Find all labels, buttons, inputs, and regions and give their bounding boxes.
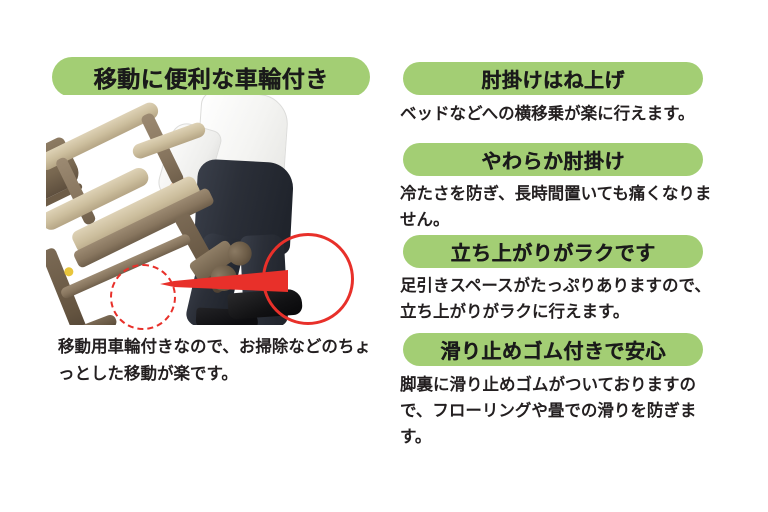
left-feature-heading-pill: 移動に便利な車輪付き: [52, 57, 370, 97]
feature-4-body-text: 脚裏に滑り止めゴムがついておりますので、フローリングや畳での滑りを防ぎます。: [400, 372, 712, 450]
product-photo: [46, 95, 386, 325]
feature-2-heading-text: やわらか肘掛け: [481, 145, 625, 174]
feature-4-heading-pill: 滑り止めゴム付きで安心: [403, 333, 703, 366]
feature-3-heading-text: 立ち上がりがラクです: [451, 237, 656, 266]
feature-1-heading-text: 肘掛けはね上げ: [481, 64, 625, 93]
feature-2-body-text: 冷たさを防ぎ、長時間置いても痛くなりません。: [400, 181, 712, 233]
feature-3-heading-pill: 立ち上がりがラクです: [403, 235, 703, 268]
left-feature-caption: 移動用車輪付きなので、お掃除などのちょっとした移動が楽です。: [58, 333, 376, 387]
feature-3-body-text: 足引きスペースがたっぷりありますので、立ち上がりがラクに行えます。: [400, 273, 712, 325]
infographic-canvas: 移動に便利な車輪付き: [0, 0, 768, 512]
feature-2-heading-pill: やわらか肘掛け: [403, 143, 703, 176]
feature-1-heading-pill: 肘掛けはね上げ: [403, 62, 703, 95]
left-feature-heading-text: 移動に便利な車輪付き: [94, 60, 329, 94]
feature-4-heading-text: 滑り止めゴム付きで安心: [440, 335, 666, 364]
feature-1-body-text: ベッドなどへの横移乗が楽に行えます。: [400, 101, 712, 127]
